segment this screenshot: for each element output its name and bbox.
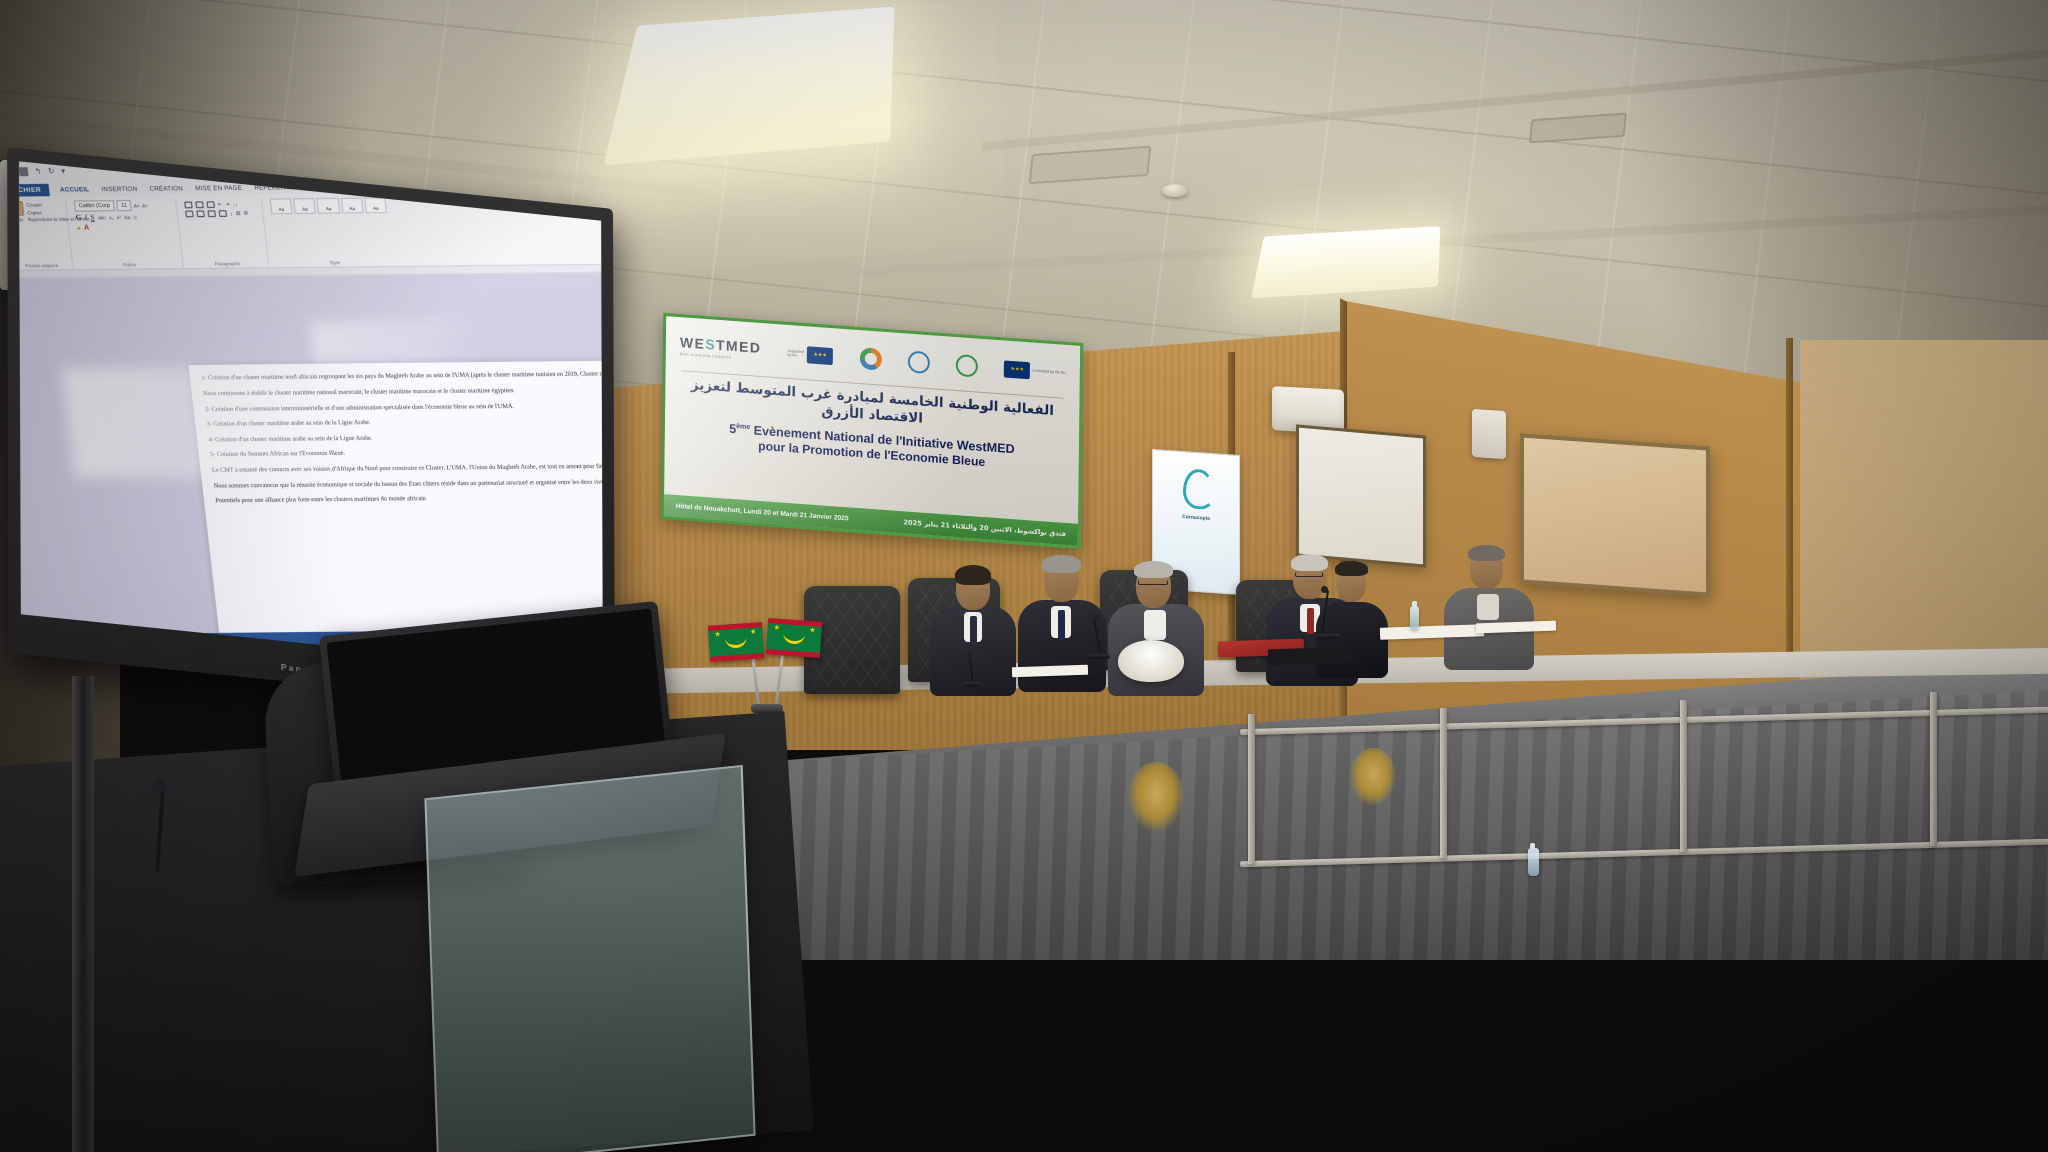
speaker-5-hair xyxy=(1335,561,1368,576)
ceiling-light-panel xyxy=(1251,226,1440,298)
multilevel-list-icon[interactable] xyxy=(206,201,215,208)
flag-stripe-bottom xyxy=(710,653,764,662)
decrease-indent-icon[interactable]: ⇤ xyxy=(218,201,223,208)
wall-panel-edge xyxy=(1786,338,1793,668)
bold-button[interactable]: G xyxy=(75,214,82,222)
bulleted-list-icon[interactable] xyxy=(184,202,193,209)
decrease-font-icon[interactable]: A˅ xyxy=(142,203,149,209)
ribbon-group-clipboard: Coller Couper Copier Reproduire la mise … xyxy=(19,199,74,269)
projection-screen xyxy=(1520,433,1710,596)
tab-fichier[interactable]: FICHIER xyxy=(19,184,50,197)
dais-post xyxy=(1248,714,1255,864)
style-no-spacing[interactable]: Aa xyxy=(293,198,316,214)
dais-post xyxy=(1440,708,1447,858)
font-color-row[interactable]: ▰ A xyxy=(76,223,174,232)
status-words: 1054 MOTS xyxy=(107,637,138,644)
smoke-detector-icon xyxy=(1162,184,1188,197)
microphone-head xyxy=(1092,614,1099,621)
microphone-head xyxy=(1321,586,1328,593)
redo-icon[interactable]: ↻ xyxy=(47,166,55,175)
list-row[interactable]: ⇤ ⇥ ↓↑ xyxy=(184,201,257,208)
eu-cofund-text: Co-funded by the EU xyxy=(1032,368,1066,375)
speaker-4-tie xyxy=(1307,608,1314,634)
speaker-6 xyxy=(1444,544,1538,666)
speaker-3-hair xyxy=(1134,561,1173,578)
white-hat xyxy=(1118,640,1184,682)
document-paragraph: 1- Création d'un cluster maritime nord a… xyxy=(201,366,603,383)
mauritania-flag xyxy=(708,622,764,662)
chevron-down-icon[interactable]: ▾ xyxy=(61,166,66,175)
line-spacing-icon[interactable]: ↕ xyxy=(230,211,233,217)
align-center-icon[interactable] xyxy=(196,210,205,217)
speaker-3-glasses xyxy=(1138,580,1168,585)
numbered-list-icon[interactable] xyxy=(195,201,204,208)
eu-cofund-block: Co-funded by the EU xyxy=(1004,360,1066,381)
rollup-label: Cornucopia xyxy=(1182,514,1210,522)
font-format-row[interactable]: G I S abc x₂ x² Aa ◇ xyxy=(75,213,173,222)
document-paragraph: Nous sommes convaincus que la réussite é… xyxy=(213,474,603,491)
mauritania-flag xyxy=(766,618,822,658)
align-left-icon[interactable] xyxy=(185,211,194,218)
font-size-select[interactable]: 11 xyxy=(116,200,132,211)
partner-logo-blue-icon xyxy=(908,351,930,375)
font-family-select[interactable]: Calibri (Corp xyxy=(74,200,115,212)
save-icon[interactable] xyxy=(19,167,29,176)
style-title[interactable]: Aa xyxy=(364,197,387,213)
underline-button[interactable]: S xyxy=(90,214,95,222)
subscript-icon[interactable]: x₂ xyxy=(109,215,114,221)
microphone-head xyxy=(966,652,973,659)
edge-icon[interactable] xyxy=(267,651,282,665)
speaker-1-hair xyxy=(955,565,991,585)
sort-icon[interactable]: ↓↑ xyxy=(232,202,238,208)
style-heading-1[interactable]: Aa xyxy=(317,198,340,214)
mail-icon[interactable] xyxy=(305,651,320,665)
style-normal[interactable]: Aa xyxy=(270,198,293,214)
flag-stand xyxy=(705,616,833,726)
crescent-star-icon xyxy=(725,636,748,649)
increase-font-icon[interactable]: A˄ xyxy=(133,203,140,209)
whiteboard xyxy=(1296,424,1426,567)
ribbon-group-paragraph: ⇤ ⇥ ↓↑ ↕ ▤ ⊞ Paragr xyxy=(179,197,269,268)
clear-formatting-icon[interactable]: ◇ xyxy=(133,214,138,221)
tab-mise-en-page[interactable]: MISE EN PAGE xyxy=(193,182,243,195)
speaker-2-tie xyxy=(1058,610,1065,640)
word-application: ↰ ↻ ▾ CM3 présentation francais détaillé… xyxy=(19,161,603,673)
westmed-logo: WESTMED blue economy initiative xyxy=(680,335,762,362)
align-right-icon[interactable] xyxy=(207,210,216,217)
document-paragraph: 4- Création d'un cluster maritime arabe … xyxy=(208,428,603,445)
microphone-base xyxy=(1088,654,1110,659)
glass-lectern xyxy=(424,765,755,1152)
document-paragraph: 5- Création du Sommet African sur l'Econ… xyxy=(210,443,603,460)
water-bottle xyxy=(1528,848,1539,876)
font-color-icon[interactable]: A xyxy=(84,224,90,232)
document-paragraph: 3- Création d'un cluster maritime arabe … xyxy=(206,413,603,430)
water-bottle xyxy=(1410,606,1419,630)
presenter-tooltip: Appuyer sur une touche pour avancer. xyxy=(217,505,603,522)
eu-support-block: Supported by the xyxy=(787,344,833,364)
eu-support-text: Supported by the xyxy=(787,348,804,358)
group-label-font: Police xyxy=(76,261,182,268)
speaker-6-shirt xyxy=(1477,594,1499,620)
superscript-icon[interactable]: x² xyxy=(116,215,121,221)
task-view-icon[interactable] xyxy=(248,652,263,666)
borders-icon[interactable]: ⊞ xyxy=(243,210,248,217)
westmed-s-glyph: S xyxy=(705,335,716,352)
presenter-tooltip-2: Arrêt sur absence d'activité xyxy=(219,520,603,537)
speaker-6-hair xyxy=(1468,545,1505,561)
group-label-clipboard: Presse-papiers xyxy=(19,262,73,268)
eu-flag-icon xyxy=(1004,360,1030,379)
status-language: FRANÇAIS (FRANCE) xyxy=(148,636,205,643)
conference-room-photo: WESTMED blue economy initiative Supporte… xyxy=(0,0,2048,1152)
banner-footer-arabic: فندق نواكشوط، الاثنين 20 والثلاثاء 21 ين… xyxy=(903,518,1066,538)
eu-flag-icon xyxy=(807,346,833,365)
paste-button[interactable]: Coller xyxy=(19,201,25,223)
document-paragraph: Le CMT a entamé des contacts avec ses vo… xyxy=(212,459,603,476)
document-paragraph: Potentiels pour une alliance plus forte … xyxy=(215,489,603,506)
ribbon[interactable]: Coller Couper Copier Reproduire la mise … xyxy=(19,190,603,271)
paste-label: Coller xyxy=(19,217,24,223)
shading-icon[interactable]: ▤ xyxy=(235,210,240,217)
paste-icon xyxy=(19,201,24,216)
document-paragraph: Nous continuons à établir le cluster mar… xyxy=(203,382,603,399)
ceiling-light-panel xyxy=(604,7,895,166)
undo-icon[interactable]: ↰ xyxy=(34,166,42,175)
dais-post xyxy=(1930,692,1937,846)
tab-accueil[interactable]: ACCUEIL xyxy=(58,183,91,196)
style-gallery[interactable]: Aa Aa Aa Aa Aa xyxy=(270,197,388,214)
justify-icon[interactable] xyxy=(219,210,228,217)
dais-post xyxy=(1680,700,1687,852)
align-row[interactable]: ↕ ▤ ⊞ xyxy=(185,210,258,217)
flag-stripe-bottom xyxy=(766,649,820,658)
text-highlight-icon[interactable]: ▰ xyxy=(77,225,82,232)
status-page: PAGE 5 SUR 5 xyxy=(58,638,96,645)
wall-speaker xyxy=(1472,409,1506,459)
ribbon-group-styles: Aa Aa Aa Aa Aa Style xyxy=(265,196,398,267)
ordinal-suffix: ème xyxy=(736,423,750,431)
group-label-styles: Style xyxy=(272,259,397,266)
increase-indent-icon[interactable]: ⇥ xyxy=(225,201,230,208)
speaker-5-body xyxy=(1316,602,1388,678)
document-paragraph: 2- Création d'une commission interminist… xyxy=(204,397,602,414)
microphone-base xyxy=(1316,634,1340,639)
style-heading-2[interactable]: Aa xyxy=(340,198,363,214)
tab-creation[interactable]: CRÉATION xyxy=(148,182,185,195)
banner-footer-french: Hôtel de Nouakchott, Lundi 20 et Mardi 2… xyxy=(676,502,849,521)
tab-references[interactable]: RÉFÉRENCES xyxy=(253,181,301,194)
rollup-logo-icon xyxy=(1179,468,1213,510)
dais-emblem xyxy=(1128,762,1184,832)
microphone-base xyxy=(962,682,982,687)
speaker-3-shirt xyxy=(1144,610,1166,640)
change-case-icon[interactable]: Aa xyxy=(124,215,131,221)
laptop-on-table xyxy=(1268,647,1353,666)
speaker-1-tie xyxy=(970,616,977,644)
crescent-star-icon xyxy=(783,632,806,645)
speaker-1 xyxy=(930,560,1020,690)
strikethrough-icon[interactable]: abc xyxy=(98,215,107,221)
partner-logo-green-icon xyxy=(956,354,978,378)
speaker-2-hair xyxy=(1042,555,1081,573)
event-banner: WESTMED blue economy initiative Supporte… xyxy=(661,313,1083,549)
tab-insertion[interactable]: INSERTION xyxy=(100,183,139,196)
ribbon-group-font: Calibri (Corp 11 A˄ A˅ G I S abc x₂ x² xyxy=(69,198,184,269)
dais-emblem xyxy=(1350,748,1396,806)
tv-stand-pole xyxy=(72,676,94,1152)
display-screen: ↰ ↻ ▾ CM3 présentation francais détaillé… xyxy=(19,161,603,673)
far-right-wall xyxy=(1800,340,2048,680)
group-label-paragraph: Paragraphe xyxy=(187,260,269,266)
tab-publipostage[interactable]: PUBLIPOSTAGE xyxy=(310,181,364,194)
partner-logo-orange-icon xyxy=(859,347,881,371)
italic-button[interactable]: I xyxy=(84,214,87,222)
